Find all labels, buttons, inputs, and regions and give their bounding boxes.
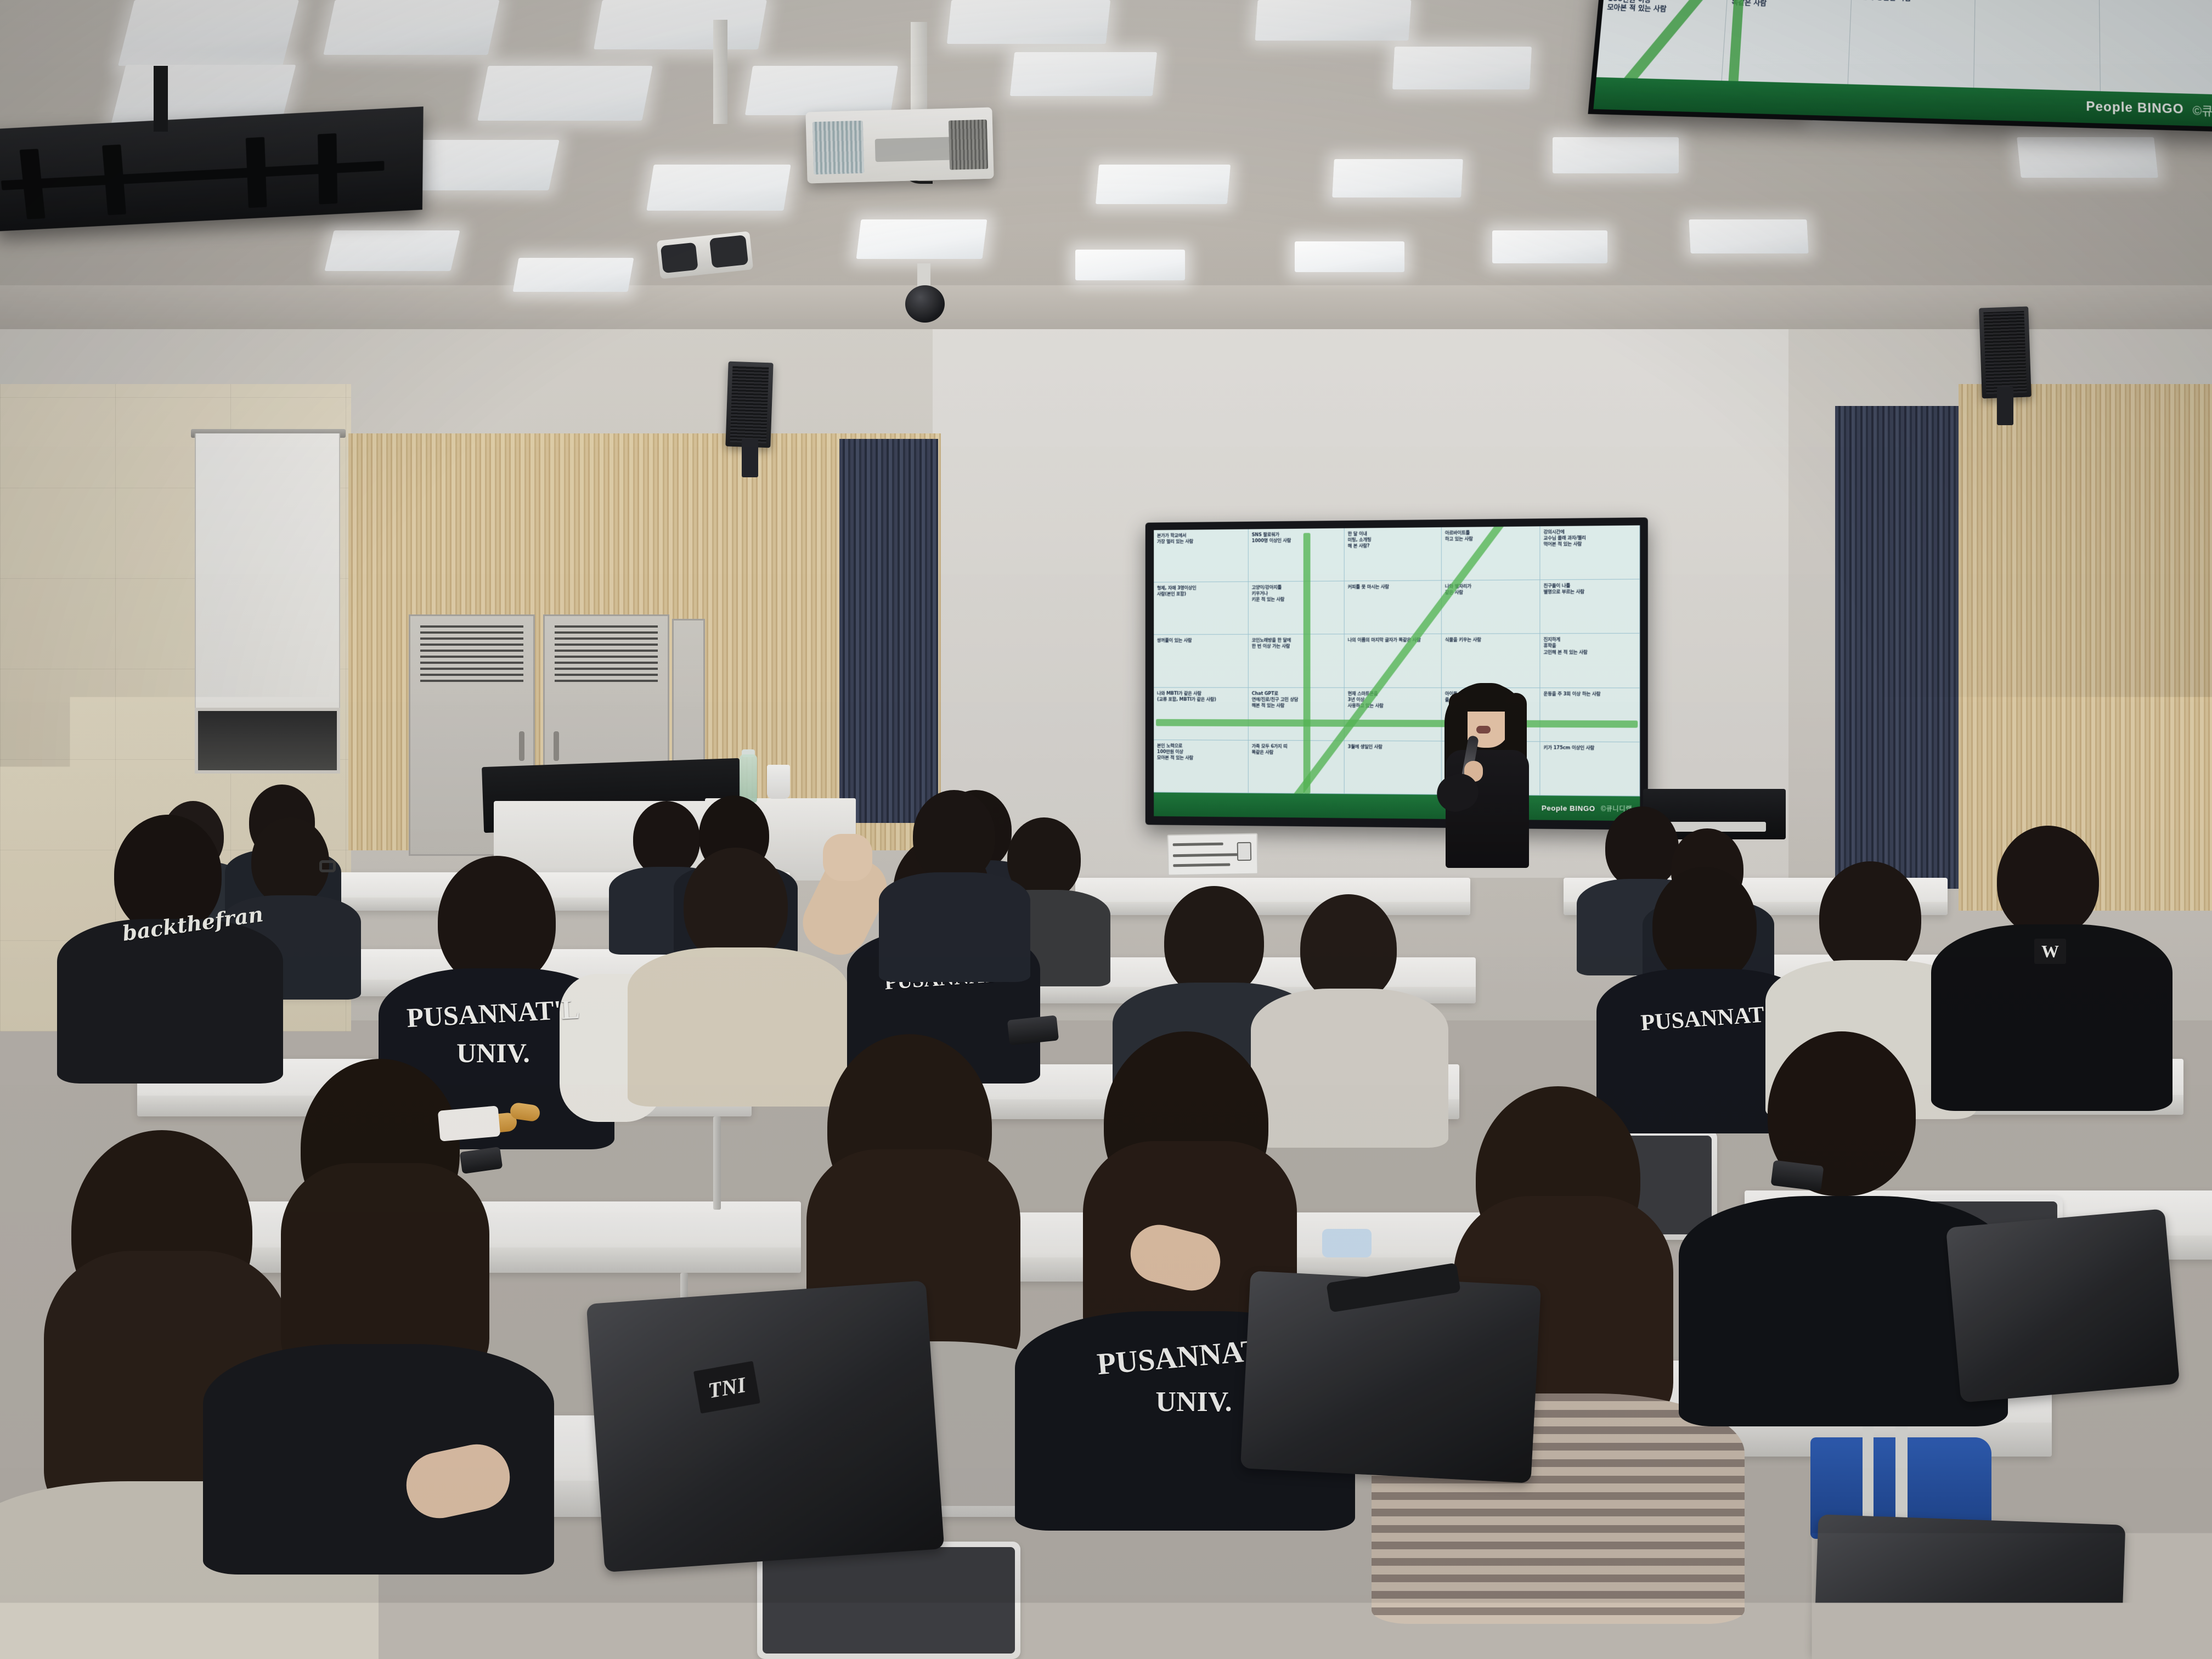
student-head xyxy=(251,817,329,905)
w-logo-patch: W xyxy=(2034,939,2066,964)
bingo-brand-label: People BINGO xyxy=(1542,804,1595,812)
speaker-bracket xyxy=(742,439,758,477)
bingo-cell[interactable]: 나와 MBTI가 같은 사람 (교류 포함, MBTI가 같은 사람) xyxy=(1154,687,1249,740)
dome-camera-icon xyxy=(905,285,945,323)
sign-text-line xyxy=(1173,853,1238,857)
sign-text-line xyxy=(1173,863,1230,867)
bingo-cell[interactable]: 키가 175cm 이상인 사람 xyxy=(1540,742,1640,797)
rear-window xyxy=(195,708,340,774)
door-handle-icon[interactable] xyxy=(554,731,559,761)
bingo-cell[interactable]: SNS 팔로워가 1000명 이상인 사람 xyxy=(1249,528,1345,582)
bingo-cell[interactable]: 한 달 이내 미팅, 소개팅 해 본 사람? xyxy=(1345,527,1442,582)
ceiling-light-panel xyxy=(856,219,988,259)
bingo-cell[interactable]: 코인노래방을 한 달에 한 번 이상 가는 사람 xyxy=(1249,635,1345,688)
desk-leg xyxy=(713,1116,721,1210)
ceiling-light-panel xyxy=(594,0,767,49)
ceiling-light-panel xyxy=(1553,137,1679,173)
ceiling-light-panel xyxy=(1392,47,1532,89)
speaker-grille-icon xyxy=(730,366,769,443)
student-seated xyxy=(894,790,1015,966)
speaker-bracket xyxy=(1997,387,2013,425)
bingo-cell[interactable]: 쌍꺼풀이 있는 사람 xyxy=(1154,635,1249,687)
ceiling-light-panel xyxy=(323,0,499,55)
student-torso xyxy=(879,872,1030,982)
ceiling-light-panel xyxy=(1492,230,1607,263)
bingo-cell[interactable]: 3월에 생일인 사람 xyxy=(1345,741,1442,794)
student-seated-near-right xyxy=(1701,1031,1986,1481)
interactive-flat-panel[interactable]: 본가가 학교에서 가장 멀리 있는 사람SNS 팔로워가 1000명 이상인 사… xyxy=(1145,517,1648,830)
paper-cup xyxy=(767,765,790,799)
ceiling-light-panel xyxy=(646,165,791,211)
ceiling-light-panel xyxy=(745,66,898,115)
bingo-cell[interactable]: 진지하게 휴학을 고민해 본 적 있는 사람 xyxy=(1540,634,1640,688)
coat-draped xyxy=(1577,1543,1934,1659)
ceiling-light-panel xyxy=(1096,165,1231,204)
ceiling-light-panel xyxy=(1010,52,1157,96)
student-head xyxy=(1652,867,1757,984)
ceiling-light-panel xyxy=(1255,0,1411,41)
wall-speaker-left xyxy=(725,362,773,448)
bingo-grid: 본가가 학교에서 가장 멀리 있는 사람SNS 팔로워가 1000명 이상인 사… xyxy=(1154,526,1640,797)
bingo-brand-label: People BINGO xyxy=(2086,99,2184,117)
ceiling-projector xyxy=(805,108,994,184)
bingo-cell: 3월에 생일인 사람 xyxy=(1848,0,1975,88)
student-head xyxy=(913,790,995,882)
presenter-mouth xyxy=(1476,726,1491,733)
bingo-copyright-label: ©큐 xyxy=(2192,101,2212,119)
ceiling-light-panel xyxy=(2017,137,2158,178)
bingo-cell[interactable]: 고양이/강아지를 키우거나 키운 적 있는 사람 xyxy=(1249,582,1345,635)
student-head xyxy=(1997,826,2099,936)
ceiling-light-panel xyxy=(477,66,652,121)
wall-speaker-right xyxy=(1979,306,2032,398)
ceiling-light-panel xyxy=(1332,159,1463,198)
bingo-footer-bar: People BINGO ©큐니디랩 xyxy=(1154,792,1640,821)
student-with-script-jacket: backthefran xyxy=(82,815,258,1045)
projector-port-panel xyxy=(875,137,958,162)
speaker-grille-icon xyxy=(1983,311,2027,394)
bingo-cell[interactable]: 본인 노력으로 100만원 이상 모아본 적 있는 사람 xyxy=(1154,740,1249,793)
bingo-cell[interactable]: 커피를 못 마시는 사람 xyxy=(1345,581,1442,635)
spotlight-lamp-icon xyxy=(661,242,698,273)
student-head xyxy=(1164,886,1264,998)
item-on-desk xyxy=(1322,1229,1372,1257)
backpack[interactable] xyxy=(1946,1209,2180,1403)
paper-cup-on-desk xyxy=(438,1105,500,1141)
ceiling-light-panel xyxy=(400,140,560,190)
smartphone-on-desk[interactable] xyxy=(1007,1015,1059,1045)
ceiling-light-panel xyxy=(513,258,634,292)
lecture-hall-photo: 본인 노력으로 100만원 이상 모아본 적 있는 사람 가족 모두 6가지 띠… xyxy=(0,0,2212,1659)
student-head xyxy=(438,856,556,988)
projector-mount-pole xyxy=(911,22,927,121)
ceiling-light-panel xyxy=(1075,250,1185,280)
tni-logo-patch: TNI xyxy=(693,1361,760,1414)
wall-info-sign xyxy=(1167,833,1258,876)
display-support-pole xyxy=(154,66,168,132)
bingo-cell[interactable]: Chat GPT로 연애/진로/친구 고민 상담 해본 적 있는 사람 xyxy=(1249,687,1345,741)
ceiling-mounted-display-rear xyxy=(0,106,424,232)
sign-pictogram-icon xyxy=(1237,842,1252,861)
projector-exhaust-vent xyxy=(949,120,988,170)
projector-vent-icon xyxy=(812,121,864,174)
student-head xyxy=(1300,894,1397,1003)
flat-panel-screen[interactable]: 본가가 학교에서 가장 멀리 있는 사람SNS 팔로워가 1000명 이상인 사… xyxy=(1154,526,1640,821)
student-head xyxy=(1819,861,1921,975)
student-head xyxy=(684,848,788,964)
presenter-with-microphone xyxy=(1435,679,1539,865)
bingo-cell[interactable]: 친구들이 나를 별명으로 부르는 사람 xyxy=(1540,579,1640,634)
overhead-tv-screen: 본인 노력으로 100만원 이상 모아본 적 있는 사람 가족 모두 6가지 띠… xyxy=(1593,0,2212,127)
bingo-cell[interactable]: 운동을 주 3회 이상 하는 사람 xyxy=(1540,688,1640,742)
ceiling-light-panel xyxy=(947,0,1110,44)
classroom-chair[interactable] xyxy=(757,1542,1020,1659)
bingo-cell[interactable]: 본가가 학교에서 가장 멀리 있는 사람 xyxy=(1154,529,1249,583)
eyeglasses-icon xyxy=(319,860,336,872)
door-louver-vent xyxy=(420,622,523,682)
bingo-cell[interactable]: 아르바이트를 하고 있는 사람 xyxy=(1442,526,1541,580)
door-handle-icon[interactable] xyxy=(519,731,524,761)
bingo-cell[interactable]: 나와 별자리가 같은 사람 xyxy=(1442,580,1541,635)
bingo-cell[interactable]: 나의 이름의 마지막 글자가 똑같은 사람 xyxy=(1345,634,1442,688)
bingo-cell[interactable]: 가족 모두 6가지 띠 똑같은 사람 xyxy=(1249,741,1345,794)
overhead-tv: 본인 노력으로 100만원 이상 모아본 적 있는 사람 가족 모두 6가지 띠… xyxy=(1588,0,2212,132)
bingo-cell[interactable]: 현재 스마트폰을 3년 이상 사용하고 있는 사람 xyxy=(1345,688,1442,742)
door-louver-vent xyxy=(555,622,658,682)
navy-slat-panel-left xyxy=(839,439,938,823)
projector-support-pole xyxy=(713,20,727,124)
leather-bag[interactable]: TNI xyxy=(586,1280,945,1572)
bingo-cell xyxy=(1974,0,2100,91)
bingo-cell xyxy=(2100,0,2212,95)
bingo-cell[interactable]: 형제, 자매 3명이상인 사람(본인 포함) xyxy=(1154,582,1249,635)
bingo-cell[interactable]: 강의시간에 교수님 몰래 과자/젤리 먹어본 적 있는 사람 xyxy=(1540,526,1640,580)
sign-text-line xyxy=(1173,843,1223,847)
spotlight-lamp-icon xyxy=(709,235,748,268)
navy-slat-panel-right xyxy=(1835,406,1961,889)
pull-down-projection-screen xyxy=(195,433,340,713)
ceiling-light-panel xyxy=(324,230,460,271)
ceiling-light-panel xyxy=(1689,219,1808,253)
ceiling-light-panel xyxy=(118,0,299,66)
ceiling-light-panel xyxy=(1295,241,1404,272)
